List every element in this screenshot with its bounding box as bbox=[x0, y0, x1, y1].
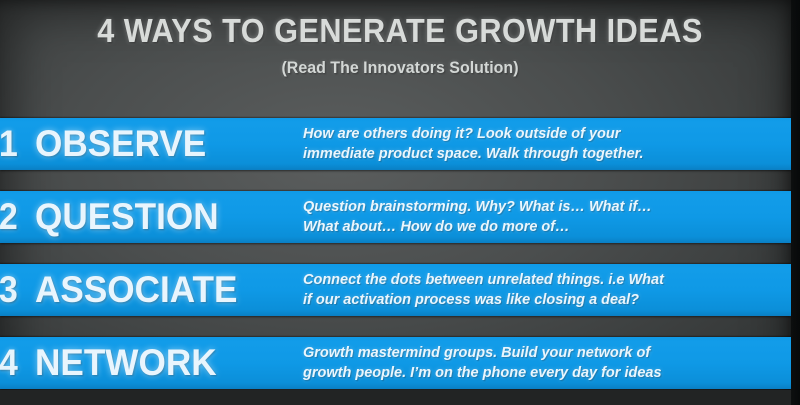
row-description-line-2: if our activation process was like closi… bbox=[303, 290, 785, 310]
row-heading-group: 1 OBSERVE bbox=[0, 124, 303, 164]
row-keyword: NETWORK bbox=[35, 343, 217, 383]
row-number: 4 bbox=[0, 343, 18, 383]
page-title: 4 WAYS TO GENERATE GROWTH IDEAS bbox=[28, 0, 772, 49]
row-number: 2 bbox=[0, 197, 18, 237]
row-heading-group: 3 ASSOCIATE bbox=[0, 270, 303, 310]
row-description-line-1: Question brainstorming. Why? What is… Wh… bbox=[303, 197, 785, 217]
list-item: 2 QUESTION Question brainstorming. Why? … bbox=[0, 191, 791, 243]
slide-header: 4 WAYS TO GENERATE GROWTH IDEAS (Read Th… bbox=[0, 0, 800, 78]
row-number: 1 bbox=[0, 124, 18, 164]
row-description: How are others doing it? Look outside of… bbox=[303, 124, 791, 164]
row-description: Connect the dots between unrelated thing… bbox=[303, 270, 791, 310]
list-item: 3 ASSOCIATE Connect the dots between unr… bbox=[0, 264, 791, 316]
row-description-line-2: What about… How do we do more of… bbox=[303, 217, 785, 237]
row-description-line-1: Growth mastermind groups. Build your net… bbox=[303, 343, 785, 363]
row-description-line-2: growth people. I’m on the phone every da… bbox=[303, 363, 785, 383]
row-description-line-1: Connect the dots between unrelated thing… bbox=[303, 270, 785, 290]
row-description: Question brainstorming. Why? What is… Wh… bbox=[303, 197, 791, 237]
row-description-line-2: immediate product space. Walk through to… bbox=[303, 144, 785, 164]
row-description-line-1: How are others doing it? Look outside of… bbox=[303, 124, 785, 144]
row-keyword: OBSERVE bbox=[35, 124, 206, 164]
row-heading-group: 4 NETWORK bbox=[0, 343, 303, 383]
page-subtitle: (Read The Innovators Solution) bbox=[24, 49, 776, 78]
row-heading-group: 2 QUESTION bbox=[0, 197, 303, 237]
row-keyword: ASSOCIATE bbox=[35, 270, 237, 310]
row-number: 3 bbox=[0, 270, 18, 310]
row-keyword: QUESTION bbox=[35, 197, 219, 237]
list-item: 4 NETWORK Growth mastermind groups. Buil… bbox=[0, 337, 791, 389]
row-description: Growth mastermind groups. Build your net… bbox=[303, 343, 791, 383]
ways-list: 1 OBSERVE How are others doing it? Look … bbox=[0, 118, 800, 405]
slide-canvas: 4 WAYS TO GENERATE GROWTH IDEAS (Read Th… bbox=[0, 0, 800, 405]
right-letterbox bbox=[791, 0, 800, 405]
bottom-letterbox bbox=[0, 390, 800, 405]
list-item: 1 OBSERVE How are others doing it? Look … bbox=[0, 118, 791, 170]
